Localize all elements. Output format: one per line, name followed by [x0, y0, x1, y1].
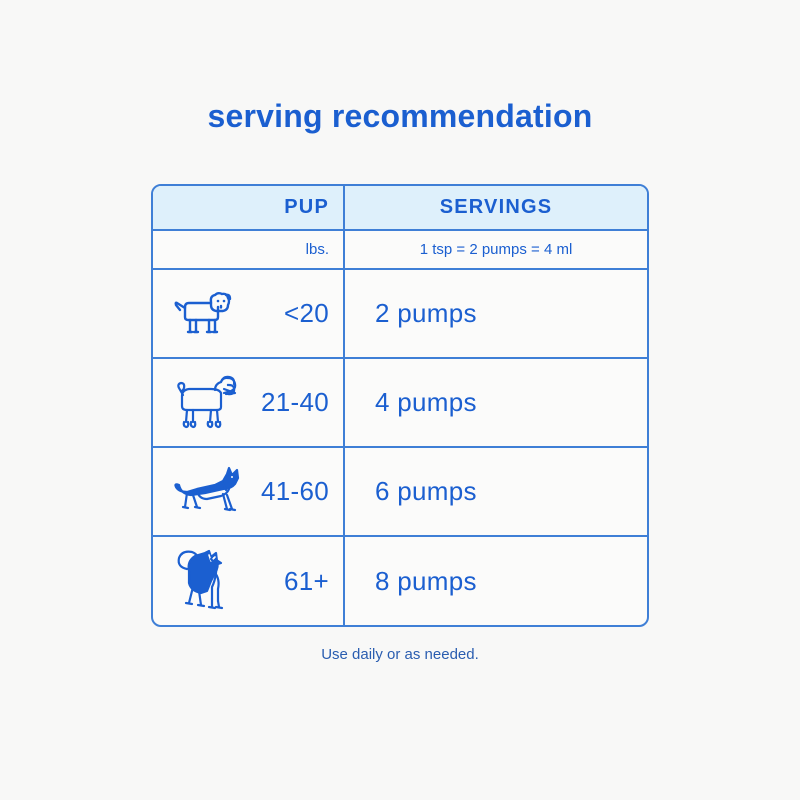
header-cell-pup: PUP — [153, 186, 345, 229]
row-cell-servings: 6 pumps — [345, 448, 647, 535]
row-cell-pup: <20 — [153, 270, 345, 357]
table-row: 41-60 6 pumps — [153, 448, 647, 537]
subheader-cell-servings: 1 tsp = 2 pumps = 4 ml — [345, 231, 647, 268]
serving-recommendation-card: serving recommendation PUP SERVINGS lbs.… — [0, 0, 800, 800]
servings-value: 8 pumps — [375, 566, 477, 597]
row-cell-servings: 4 pumps — [345, 359, 647, 446]
table-header-row: PUP SERVINGS — [153, 186, 647, 231]
husky-dog-icon — [171, 547, 237, 615]
servings-conversion-note: 1 tsp = 2 pumps = 4 ml — [420, 241, 573, 258]
servings-value: 4 pumps — [375, 387, 477, 418]
german-shepherd-dog-icon — [171, 465, 247, 519]
table-subheader-row: lbs. 1 tsp = 2 pumps = 4 ml — [153, 231, 647, 270]
row-cell-servings: 2 pumps — [345, 270, 647, 357]
row-cell-servings: 8 pumps — [345, 537, 647, 625]
row-cell-pup: 61+ — [153, 537, 345, 625]
usage-footnote: Use daily or as needed. — [0, 646, 800, 663]
subheader-cell-pup: lbs. — [153, 231, 345, 268]
page-title: serving recommendation — [0, 98, 800, 135]
header-cell-servings: SERVINGS — [345, 186, 647, 229]
table-row: 21-40 4 pumps — [153, 359, 647, 448]
row-cell-pup: 21-40 — [153, 359, 345, 446]
servings-value: 2 pumps — [375, 298, 477, 329]
serving-table: PUP SERVINGS lbs. 1 tsp = 2 pumps = 4 ml — [151, 184, 649, 627]
table-row: <20 2 pumps — [153, 270, 647, 359]
weight-range: 21-40 — [261, 387, 329, 418]
pup-unit-label: lbs. — [306, 241, 329, 258]
small-dog-terrier-icon — [171, 289, 235, 339]
weight-range: <20 — [284, 298, 329, 329]
row-cell-pup: 41-60 — [153, 448, 345, 535]
weight-range: 41-60 — [261, 476, 329, 507]
table-row: 61+ 8 pumps — [153, 537, 647, 625]
servings-value: 6 pumps — [375, 476, 477, 507]
pup-column-header: PUP — [284, 196, 329, 219]
servings-column-header: SERVINGS — [440, 196, 553, 219]
weight-range: 61+ — [284, 566, 329, 597]
poodle-dog-icon — [171, 374, 241, 432]
